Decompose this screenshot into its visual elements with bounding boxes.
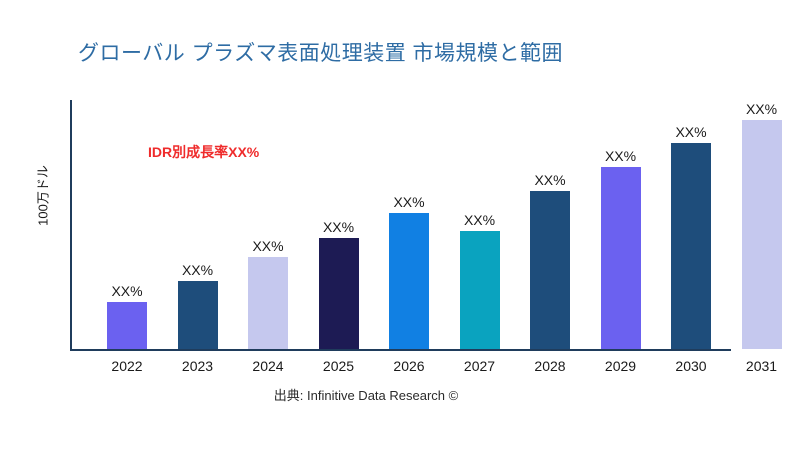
bar-value-label: XX% bbox=[234, 238, 302, 254]
x-axis-line bbox=[70, 349, 731, 351]
bar[interactable] bbox=[460, 231, 500, 349]
bar-group[interactable]: XX% bbox=[107, 302, 147, 349]
bar-value-label: XX% bbox=[657, 124, 725, 140]
bar-group[interactable]: XX% bbox=[460, 231, 500, 349]
bar-group[interactable]: XX% bbox=[248, 257, 288, 349]
source-note: 出典: Infinitive Data Research © bbox=[0, 385, 732, 404]
plot-area: XX%XX%XX%XX%XX%XX%XX%XX%XX%XX% bbox=[70, 100, 782, 350]
x-axis-tick-label: 2026 bbox=[375, 358, 443, 374]
bar[interactable] bbox=[178, 281, 218, 349]
x-axis-tick-label: 2030 bbox=[657, 358, 725, 374]
bar[interactable] bbox=[530, 191, 570, 349]
bar[interactable] bbox=[107, 302, 147, 349]
bar-group[interactable]: XX% bbox=[178, 281, 218, 349]
bar-group[interactable]: XX% bbox=[530, 191, 570, 349]
bar-value-label: XX% bbox=[164, 262, 232, 278]
bar-group[interactable]: XX% bbox=[601, 167, 641, 349]
x-axis-tick-label: 2029 bbox=[587, 358, 655, 374]
bar-value-label: XX% bbox=[375, 194, 443, 210]
x-axis-tick-label: 2025 bbox=[305, 358, 373, 374]
bar-value-label: XX% bbox=[93, 283, 161, 299]
bar-value-label: XX% bbox=[587, 148, 655, 164]
x-axis-tick-label: 2031 bbox=[728, 358, 796, 374]
bar[interactable] bbox=[319, 238, 359, 349]
x-axis-tick-label: 2022 bbox=[93, 358, 161, 374]
y-axis-line bbox=[70, 100, 72, 350]
x-axis-tick-label: 2024 bbox=[234, 358, 302, 374]
chart-title: グローバル プラズマ表面処理装置 市場規模と範囲 bbox=[78, 37, 563, 67]
bar-group[interactable]: XX% bbox=[389, 213, 429, 349]
bar-group[interactable]: XX% bbox=[671, 143, 711, 349]
bar-value-label: XX% bbox=[305, 219, 373, 235]
chart-container: グローバル プラズマ表面処理装置 市場規模と範囲 100万ドル IDR別成長率X… bbox=[0, 0, 800, 450]
bar[interactable] bbox=[742, 120, 782, 349]
bar[interactable] bbox=[389, 213, 429, 349]
bar-value-label: XX% bbox=[728, 101, 796, 117]
bar-group[interactable]: XX% bbox=[742, 120, 782, 349]
x-axis-tick-label: 2028 bbox=[516, 358, 584, 374]
bar-value-label: XX% bbox=[516, 172, 584, 188]
bar[interactable] bbox=[248, 257, 288, 349]
y-axis-label: 100万ドル bbox=[33, 136, 52, 256]
x-axis-tick-label: 2023 bbox=[164, 358, 232, 374]
x-axis-tick-label: 2027 bbox=[446, 358, 514, 374]
bar[interactable] bbox=[601, 167, 641, 349]
bar[interactable] bbox=[671, 143, 711, 349]
bar-group[interactable]: XX% bbox=[319, 238, 359, 349]
bar-value-label: XX% bbox=[446, 212, 514, 228]
